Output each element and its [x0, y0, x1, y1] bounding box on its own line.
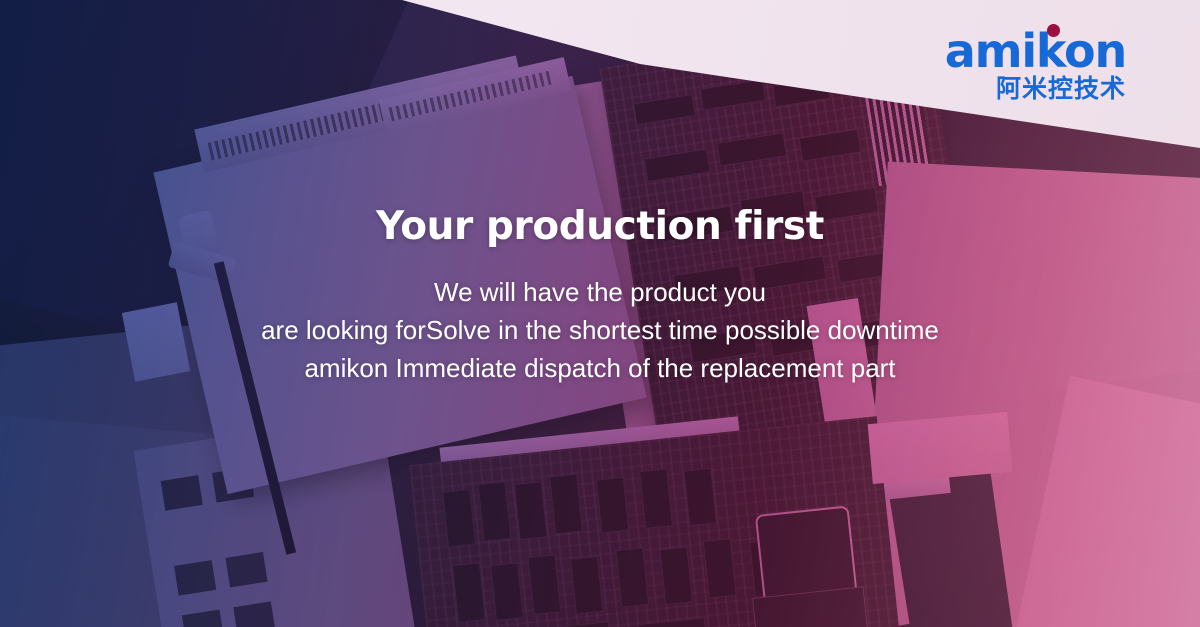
logo-chinese-name: 阿米控技术 [945, 76, 1126, 101]
promo-banner: amikon 阿米控技术 Your production first We wi… [0, 0, 1200, 627]
banner-subtext-line-1: We will have the product you [434, 277, 766, 307]
banner-copy: Your production first We will have the p… [0, 204, 1200, 387]
banner-subtext-line-2: are looking forSolve in the shortest tim… [261, 315, 939, 345]
banner-subtext: We will have the product you are looking… [0, 273, 1200, 387]
banner-headline: Your production first [0, 204, 1200, 249]
amikon-logo[interactable]: amikon 阿米控技术 [945, 28, 1126, 101]
logo-wordmark: amikon [945, 28, 1126, 74]
banner-subtext-line-3: amikon Immediate dispatch of the replace… [304, 353, 895, 383]
